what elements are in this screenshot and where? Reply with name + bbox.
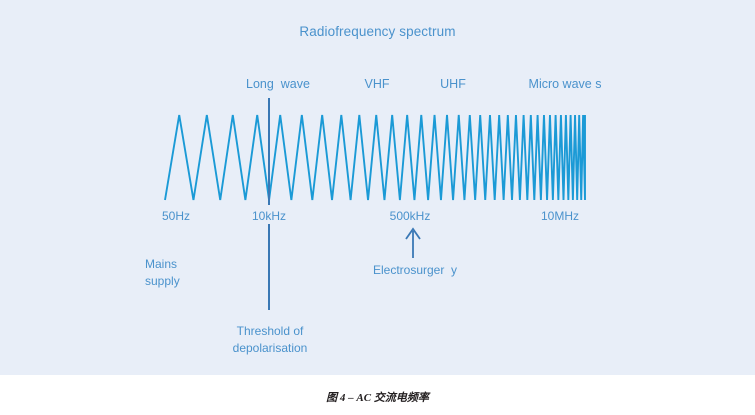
triangle-waveform: [165, 115, 585, 200]
band-label-vhf: VHF: [337, 76, 417, 92]
radiofrequency-spectrum-chart: [0, 0, 755, 375]
annotation-mains-supply: Mains supply: [145, 256, 235, 290]
waveform-polyline: [165, 115, 585, 200]
annotation-threshold-of-depolarisation: Threshold of depolarisation: [190, 323, 350, 357]
electrosurgery-arrow-icon: [406, 229, 420, 258]
band-label-uhf: UHF: [413, 76, 493, 92]
chart-title: Radiofrequency spectrum: [0, 24, 755, 40]
annotation-electrosurgery: Electrosurger y: [330, 262, 500, 278]
axis-tick-500khz: 500kHz: [365, 208, 455, 224]
axis-tick-50hz: 50Hz: [136, 208, 216, 224]
band-label-long-wave: Long wave: [218, 76, 338, 92]
band-label-micro-waves: Micro wave s: [495, 76, 635, 92]
axis-tick-10khz: 10kHz: [229, 208, 309, 224]
axis-tick-10mhz: 10MHz: [515, 208, 605, 224]
figure-panel: Radiofrequency spectrum Long wave VHF UH…: [0, 0, 755, 375]
figure-caption: 图 4 – AC 交流电频率: [0, 389, 755, 405]
